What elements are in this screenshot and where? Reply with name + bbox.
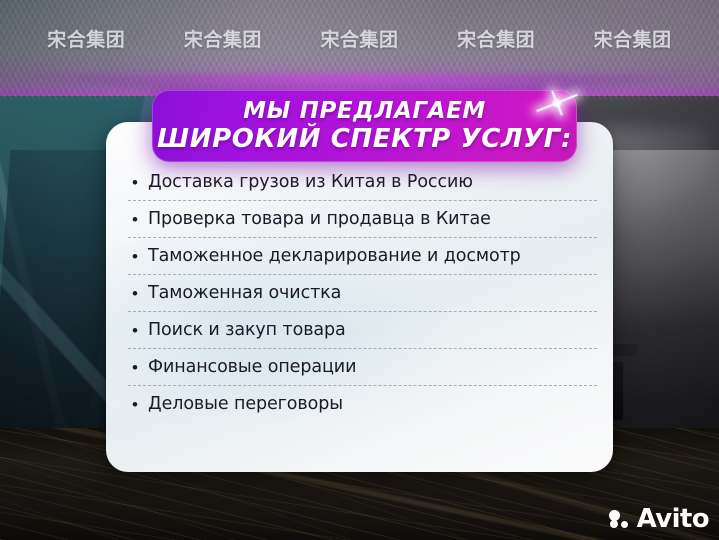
list-separator [128,311,597,312]
list-item: • Таможенное декларирование и досмотр [128,238,597,274]
avito-logo: Avito [609,506,709,532]
list-item: • Доставка грузов из Китая в Россию [128,164,597,200]
avito-wordmark: Avito [637,506,709,532]
list-item-label: Доставка грузов из Китая в Россию [148,172,473,192]
bullet-icon: • [132,248,148,265]
bullet-icon: • [132,396,148,413]
list-item: • Проверка товара и продавца в Китае [128,201,597,237]
headline-line-2: ШИРОКИЙ СПЕКТР УСЛУГ: [157,126,572,152]
headline-banner: МЫ ПРЕДЛАГАЕМ ШИРОКИЙ СПЕКТР УСЛУГ: [152,90,577,162]
bullet-icon: • [132,174,148,191]
list-item-label: Финансовые операции [148,357,356,377]
list-item-label: Проверка товара и продавца в Китае [148,209,491,229]
bullet-icon: • [132,211,148,228]
bullet-icon: • [132,359,148,376]
list-item-label: Поиск и закуп товара [148,320,346,340]
bullet-icon: • [132,322,148,339]
watermark-text: 宋合集团 [47,25,125,52]
list-item-label: Таможенная очистка [148,283,341,303]
watermark-text: 宋合集团 [320,25,398,52]
services-list: • Доставка грузов из Китая в Россию • Пр… [106,164,613,422]
avito-dots-icon [609,509,633,529]
list-item: • Поиск и закуп товара [128,312,597,348]
list-item: • Таможенная очистка [128,275,597,311]
watermark-text: 宋合集团 [184,25,262,52]
headline-line-1: МЫ ПРЕДЛАГАЕМ [243,100,486,123]
list-item-label: Деловые переговоры [148,394,343,414]
list-separator [128,200,597,201]
sparkle-core [552,98,562,108]
list-item: • Деловые переговоры [128,386,597,422]
watermark-text: 宋合集团 [594,25,672,52]
list-separator [128,237,597,238]
list-item: • Финансовые операции [128,349,597,385]
list-separator [128,348,597,349]
list-item-label: Таможенное декларирование и досмотр [148,246,521,266]
list-separator [128,274,597,275]
bullet-icon: • [132,285,148,302]
watermark-text: 宋合集团 [457,25,535,52]
screenshot-stage: 宋合集团 宋合集团 宋合集团 宋合集团 宋合集团 • Доставка груз… [0,0,719,540]
list-separator [128,385,597,386]
services-card: • Доставка грузов из Китая в Россию • Пр… [106,122,613,472]
watermark-row: 宋合集团 宋合集团 宋合集团 宋合集团 宋合集团 [0,25,719,52]
